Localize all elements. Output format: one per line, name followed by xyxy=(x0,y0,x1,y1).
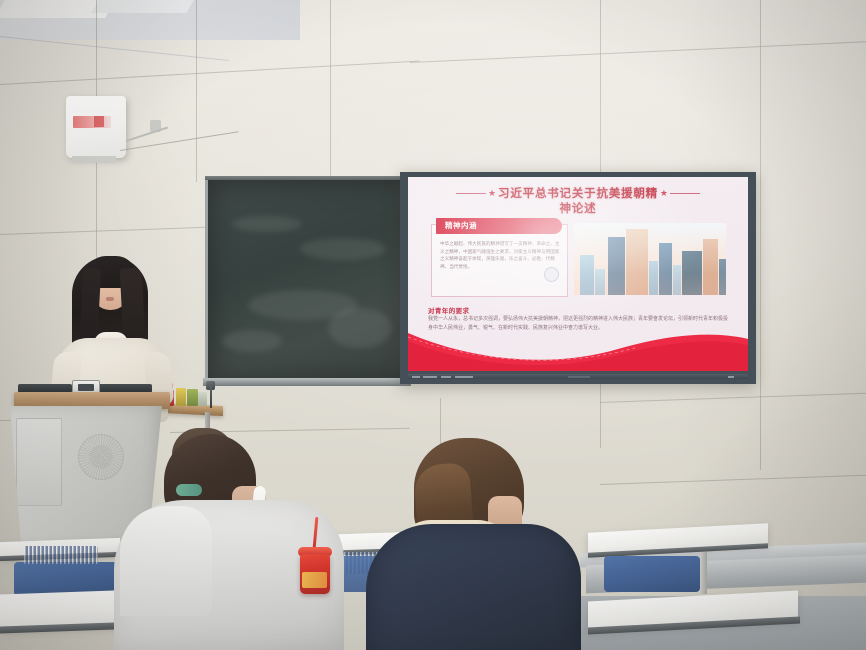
projection-screen-frame: ★ ★ 习近平总书记关于抗美援朝精 神论述 精神内涵 中华之崛起、伟大民族的精神… xyxy=(400,172,756,384)
microphone-stand xyxy=(210,386,212,408)
chalk-tray xyxy=(203,378,411,386)
red-wave-graphic xyxy=(408,327,748,371)
presenter-mouth xyxy=(106,297,114,301)
slide-title-line-2: 神论述 xyxy=(408,201,748,216)
seal-watermark-icon xyxy=(544,267,559,282)
classroom-scene: ★ ★ 习近平总书记关于抗美援朝精 神论述 精神内涵 中华之崛起、伟大民族的精神… xyxy=(0,0,866,650)
section-heading: 对青年的要求 xyxy=(428,305,469,315)
bottle-yellow xyxy=(176,388,186,406)
hair-clip xyxy=(176,484,202,496)
bottle-olive xyxy=(187,389,198,406)
student-left xyxy=(114,428,354,650)
bottle-clear xyxy=(198,392,207,406)
podium-side-panel xyxy=(16,418,62,506)
student-right-navy-top xyxy=(366,524,581,650)
cup-label xyxy=(302,572,327,588)
card-heading: 精神内涵 xyxy=(436,218,562,234)
device-base xyxy=(72,156,116,163)
projected-slide: ★ ★ 习近平总书记关于抗美援朝精 神论述 精神内涵 中华之崛起、伟大民族的精神… xyxy=(408,177,748,371)
chair[interactable] xyxy=(604,556,700,592)
slide-title: 习近平总书记关于抗美援朝精 神论述 xyxy=(408,186,748,216)
slide-content-card: 精神内涵 中华之崛起、伟大民族的精神谱写了一支精神、革命之、主义之精神，中国家气… xyxy=(431,224,568,297)
slide-title-line-1: 习近平总书记关于抗美援朝精 xyxy=(408,186,748,201)
wall-projector-box xyxy=(66,96,126,158)
blackboard xyxy=(205,180,412,382)
card-body-text: 中华之崛起、伟大民族的精神谱写了一支精神、革命之、主义之精神，中国家气魄强生之要… xyxy=(440,241,560,271)
desk-basket xyxy=(24,546,98,564)
device-label xyxy=(73,116,111,128)
student-right xyxy=(366,436,592,650)
hood-fold xyxy=(120,506,212,616)
city-skyline-image xyxy=(574,223,726,295)
laptop-screen xyxy=(78,384,94,391)
device-label-mark xyxy=(94,116,104,127)
image-haze xyxy=(574,223,726,295)
projected-taskbar xyxy=(408,374,748,379)
desk-leg xyxy=(700,552,707,594)
